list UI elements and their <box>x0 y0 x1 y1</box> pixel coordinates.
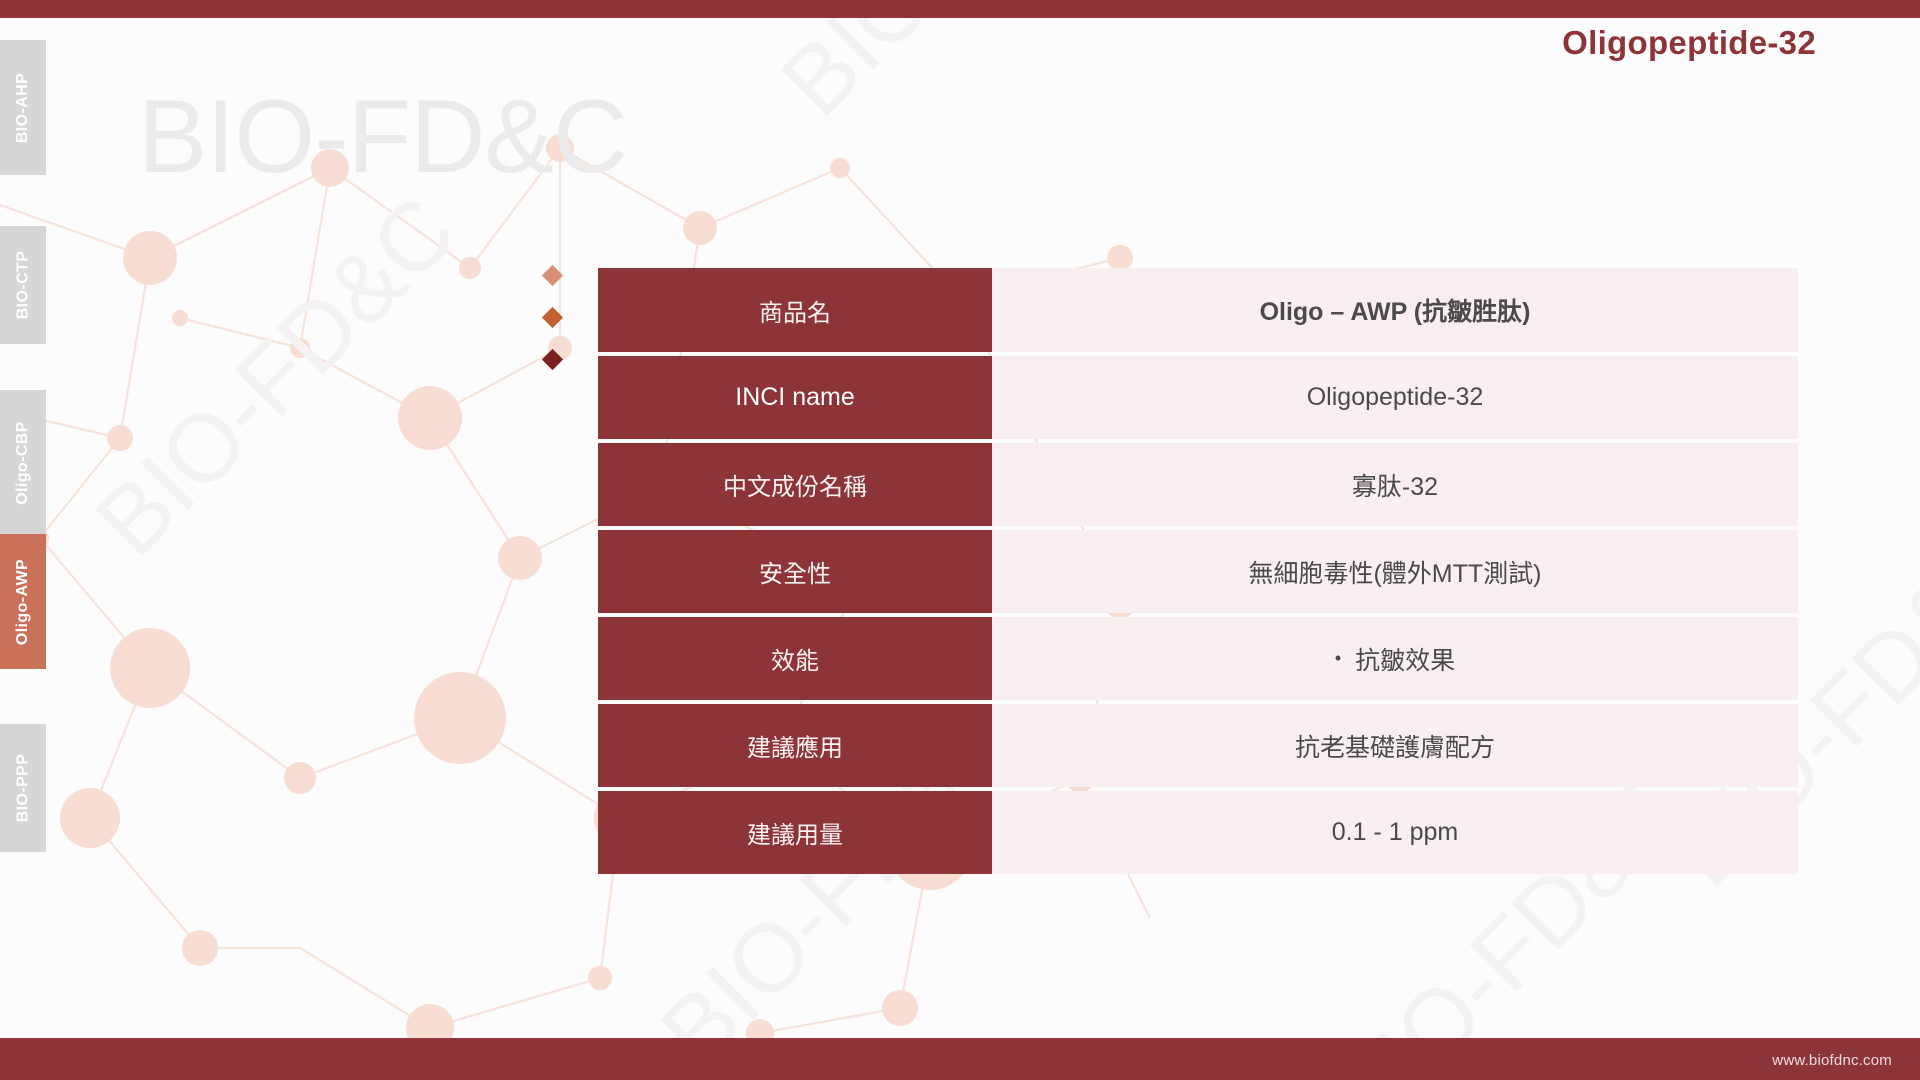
spec-label-cell: 中文成份名稱 <box>598 443 992 526</box>
spec-label-cell: INCI name <box>598 356 992 439</box>
sidebar-tab-label: BIO-PPP <box>14 754 32 823</box>
sidebar-tab-label: Oligo-AWP <box>14 558 32 644</box>
sidebar-tab-label: Oligo-CBP <box>14 421 32 505</box>
spec-label-cell: 建議應用 <box>598 704 992 787</box>
diamond-bullet-2-icon <box>542 307 563 328</box>
spec-value-cell: Oligopeptide-32 <box>992 356 1798 439</box>
header-bar <box>0 0 1920 18</box>
spec-value-cell: 無細胞毒性(體外MTT測試) <box>992 530 1798 613</box>
spec-label-cell: 商品名 <box>598 268 992 352</box>
footer-bar <box>0 1038 1920 1080</box>
sidebar-tab-label: BIO-CTP <box>14 251 32 320</box>
product-tab-rail: BIO-AHPBIO-CTPOligo-CBPOligo-AWPBIO-PPP <box>0 18 46 1038</box>
spec-label-cell: 安全性 <box>598 530 992 613</box>
table-row: 效能•抗皺效果 <box>598 617 1798 700</box>
spec-value-cell: •抗皺效果 <box>992 617 1798 700</box>
sidebar-tab-bio-ppp[interactable]: BIO-PPP <box>0 724 46 852</box>
diamond-bullet-3-icon <box>542 349 563 370</box>
watermark-diagonal-2: BIO-FD&C <box>75 176 477 578</box>
spec-label-cell: 建議用量 <box>598 791 992 874</box>
slide-canvas: BIO-FD&C BIO-FD&C BIO-FD&C BIO-FD&C BIO-… <box>0 0 1920 1080</box>
table-row: 商品名Oligo – AWP (抗皺胜肽) <box>598 268 1798 352</box>
list-bullet-icon: • <box>1335 648 1341 669</box>
footer-website-url: www.biofdnc.com <box>1772 1052 1892 1069</box>
spec-value-cell: Oligo – AWP (抗皺胜肽) <box>992 268 1798 352</box>
product-spec-table: 商品名Oligo – AWP (抗皺胜肽)INCI nameOligopepti… <box>598 268 1798 874</box>
table-row: 中文成份名稱寡肽-32 <box>598 443 1798 526</box>
spec-value-cell: 0.1 - 1 ppm <box>992 791 1798 874</box>
spec-label-cell: 效能 <box>598 617 992 700</box>
spec-value-cell: 寡肽-32 <box>992 443 1798 526</box>
watermark-diagonal-1: BIO-FD&C <box>760 0 1162 138</box>
sidebar-tab-oligo-awp[interactable]: Oligo-AWP <box>0 534 46 669</box>
sidebar-tab-oligo-cbp[interactable]: Oligo-CBP <box>0 390 46 535</box>
sidebar-tab-label: BIO-AHP <box>14 72 32 142</box>
sidebar-tab-bio-ahp[interactable]: BIO-AHP <box>0 40 46 175</box>
diamond-bullet-1-icon <box>542 265 563 286</box>
table-row: INCI nameOligopeptide-32 <box>598 356 1798 439</box>
table-row: 建議應用抗老基礎護膚配方 <box>598 704 1798 787</box>
sidebar-tab-bio-ctp[interactable]: BIO-CTP <box>0 226 46 344</box>
spec-value-text: 抗皺效果 <box>1355 641 1455 677</box>
table-row: 安全性無細胞毒性(體外MTT測試) <box>598 530 1798 613</box>
page-title: Oligopeptide-32 <box>1562 24 1816 62</box>
table-row: 建議用量0.1 - 1 ppm <box>598 791 1798 874</box>
spec-value-cell: 抗老基礎護膚配方 <box>992 704 1798 787</box>
watermark-brand-large: BIO-FD&C <box>138 78 627 197</box>
